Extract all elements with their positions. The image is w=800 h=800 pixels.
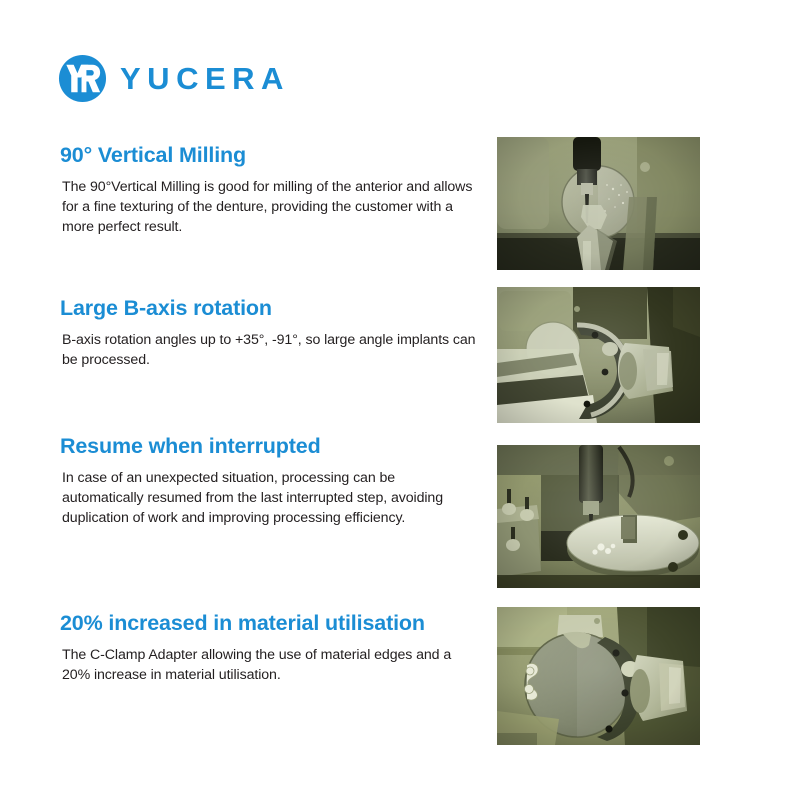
brand-wordmark: YUCERA xyxy=(120,63,290,94)
feature-heading: Resume when interrupted xyxy=(60,434,480,459)
brand-logo: YUCERA xyxy=(58,54,290,103)
feature-heading: Large B-axis rotation xyxy=(60,296,480,321)
feature-text-column: 20% increased in material utilisation Th… xyxy=(60,611,480,685)
feature-text-column: 90° Vertical Milling The 90°Vertical Mil… xyxy=(60,143,480,237)
feature-body: In case of an unexpected situation, proc… xyxy=(62,468,480,528)
feature-photo-b-axis-rotation xyxy=(497,287,700,423)
feature-body: The 90°Vertical Milling is good for mill… xyxy=(62,177,480,237)
feature-text-column: Resume when interrupted In case of an un… xyxy=(60,434,480,528)
feature-body: B-axis rotation angles up to +35°, -91°,… xyxy=(62,330,480,370)
yr-monogram-circle-icon xyxy=(58,54,107,103)
feature-photo-vertical-milling xyxy=(497,137,700,270)
feature-text-column: Large B-axis rotation B-axis rotation an… xyxy=(60,296,480,370)
feature-photo-material-utilisation xyxy=(497,607,700,745)
feature-sheet-page: YUCERA 90° Vertical Milling The 90°Verti… xyxy=(0,0,800,800)
feature-heading: 20% increased in material utilisation xyxy=(60,611,480,636)
feature-heading: 90° Vertical Milling xyxy=(60,143,480,168)
feature-body: The C-Clamp Adapter allowing the use of … xyxy=(62,645,480,685)
feature-photo-resume-when-interrupted xyxy=(497,445,700,588)
